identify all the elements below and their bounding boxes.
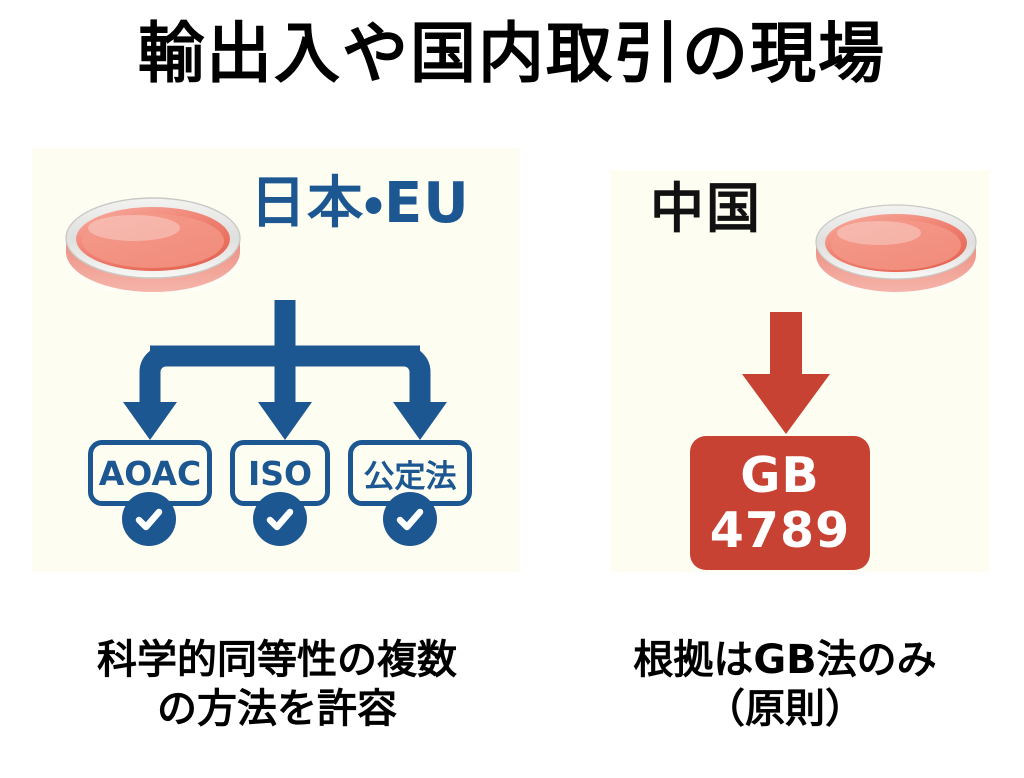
method-box-label: AOAC (99, 454, 201, 493)
three-way-branch-arrow-icon (110, 298, 460, 440)
standard-badge-gb[interactable]: GB 4789 (690, 436, 870, 570)
standard-badge-line2: 4789 (710, 506, 850, 555)
page-title: 輸出入や国内取引の現場 (0, 18, 1024, 89)
caption-left-line2: の方法を許容 (30, 685, 524, 734)
method-box-label: ISO (248, 454, 312, 493)
petri-dish-icon (812, 196, 980, 292)
caption-right-line2: （原則） (570, 685, 1000, 734)
slide-canvas: 輸出入や国内取引の現場 (0, 0, 1024, 778)
check-circle-icon (383, 492, 437, 546)
down-arrow-icon (740, 312, 832, 434)
check-circle-icon (122, 492, 176, 546)
check-circle-icon (253, 492, 307, 546)
region-label-japan-eu: 日本・EU (250, 176, 470, 232)
petri-dish-icon (62, 188, 244, 292)
caption-right-line1: 根拠はGB法のみ (570, 636, 1000, 685)
region-label-china: 中国 (650, 182, 762, 236)
standard-badge-line1: GB (740, 451, 820, 500)
caption-left: 科学的同等性の複数 の方法を許容 (30, 636, 524, 734)
caption-right: 根拠はGB法のみ （原則） (570, 636, 1000, 734)
method-box-label: 公定法 (364, 451, 457, 496)
caption-left-line1: 科学的同等性の複数 (30, 636, 524, 685)
method-box-group: AOAC ISO 公定法 (80, 440, 480, 570)
